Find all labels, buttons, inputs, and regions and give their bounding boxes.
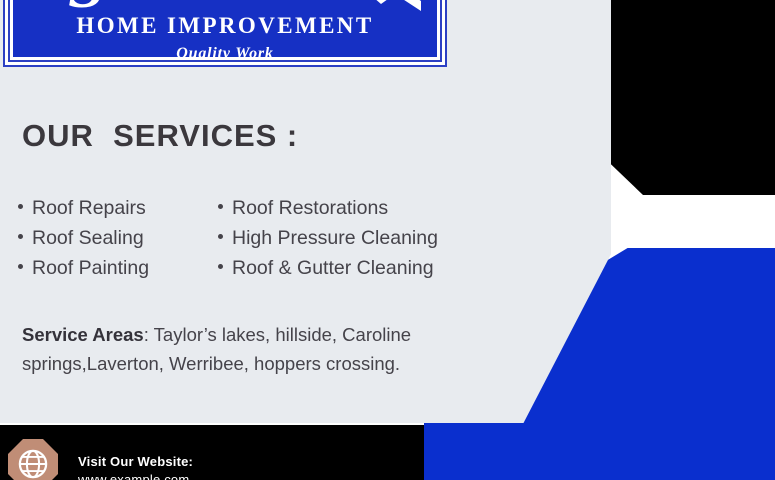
page-title: OUR SERVICES :: [22, 118, 298, 154]
footer-bar: Visit Our Website: www.example.com: [0, 425, 424, 480]
bullet-icon: [18, 264, 23, 269]
list-item: Roof Sealing: [18, 223, 218, 253]
service-areas-separator: :: [144, 324, 154, 345]
logo-tagline: Quality Work: [13, 45, 437, 60]
service-label: Roof Painting: [32, 253, 149, 283]
list-item: Roof Painting: [18, 253, 218, 283]
roof-house-icon: [329, 0, 421, 11]
service-label: Roof Sealing: [32, 223, 144, 253]
list-item: High Pressure Cleaning: [218, 223, 518, 253]
list-item: Roof Repairs: [18, 193, 218, 223]
visit-website-label: Visit Our Website:: [78, 453, 193, 471]
list-item: Roof & Gutter Cleaning: [218, 253, 518, 283]
services-list-left: Roof Repairs Roof Sealing Roof Painting: [18, 193, 218, 283]
bullet-icon: [18, 204, 23, 209]
globe-icon: [8, 439, 58, 480]
bullet-icon: [218, 204, 223, 209]
logo-border-outer: S HOME IMPROVEMENT Quality Work: [5, 0, 445, 65]
service-label: Roof Repairs: [32, 193, 146, 223]
service-label: High Pressure Cleaning: [232, 223, 438, 253]
website-url[interactable]: www.example.com: [78, 471, 193, 480]
logo-border-inner: S HOME IMPROVEMENT Quality Work: [10, 0, 440, 60]
poster-canvas: S HOME IMPROVEMENT Quality Work OUR SERV…: [0, 0, 775, 480]
footer-text-group: Visit Our Website: www.example.com: [78, 453, 193, 480]
bullet-icon: [218, 264, 223, 269]
services-list-right: Roof Restorations High Pressure Cleaning…: [218, 193, 518, 283]
service-label: Roof Restorations: [232, 193, 388, 223]
service-label: Roof & Gutter Cleaning: [232, 253, 434, 283]
list-item: Roof Restorations: [218, 193, 518, 223]
services-lists: Roof Repairs Roof Sealing Roof Painting …: [18, 193, 518, 283]
company-logo: S HOME IMPROVEMENT Quality Work: [0, 0, 450, 70]
bullet-icon: [18, 234, 23, 239]
logo-main-text: HOME IMPROVEMENT: [13, 13, 437, 39]
service-areas: Service Areas: Taylor’s lakes, hillside,…: [22, 320, 502, 378]
bullet-icon: [218, 234, 223, 239]
service-areas-label: Service Areas: [22, 324, 144, 345]
